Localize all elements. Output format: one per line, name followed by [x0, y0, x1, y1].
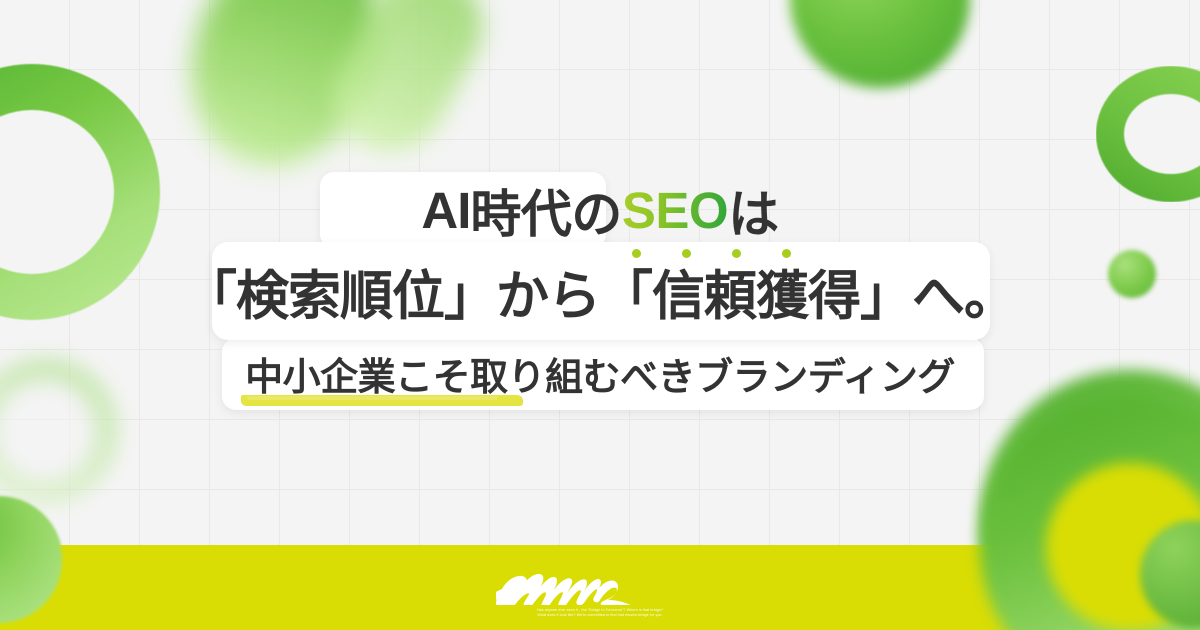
brand-tagline: Has anyone ever seen it - the "Bridge to… [505, 608, 695, 618]
accent-dot-icon [632, 249, 641, 258]
headline-line-1: AI時代のSEOは [0, 172, 1200, 248]
subheadline-text-group: 中小企業こそ取り組むべきブランディング [245, 346, 955, 401]
banner-canvas: AI時代のSEOは 「検索順位」から「信頼獲得」へ。 中小企業こそ取り組むべきブ… [0, 0, 1200, 630]
headline-line1-prefix: AI [421, 181, 470, 240]
headline-line1-suffix: は [728, 173, 779, 247]
brand-tagline-line-2: What does it look like? We're committed … [505, 613, 695, 618]
accent-dot-icon [732, 249, 741, 258]
headline-line-2: 「検索順位」から「信頼獲得」へ。 [0, 262, 1200, 322]
accent-dot-icon [782, 249, 791, 258]
subheadline-text: 中小企業こそ取り組むべきブランディング [245, 357, 955, 399]
accent-dots-row [0, 249, 1200, 263]
brand-logo-block: Has anyone ever seen it - the "Bridge to… [0, 565, 1200, 618]
accent-dot-icon [682, 249, 691, 258]
headline-line1-mid: 時代の [470, 173, 622, 247]
headline-line1-accent: SEO [622, 181, 728, 240]
amr-logo-icon [496, 565, 704, 605]
subheadline-row: 中小企業こそ取り組むべきブランディング [0, 340, 1200, 406]
